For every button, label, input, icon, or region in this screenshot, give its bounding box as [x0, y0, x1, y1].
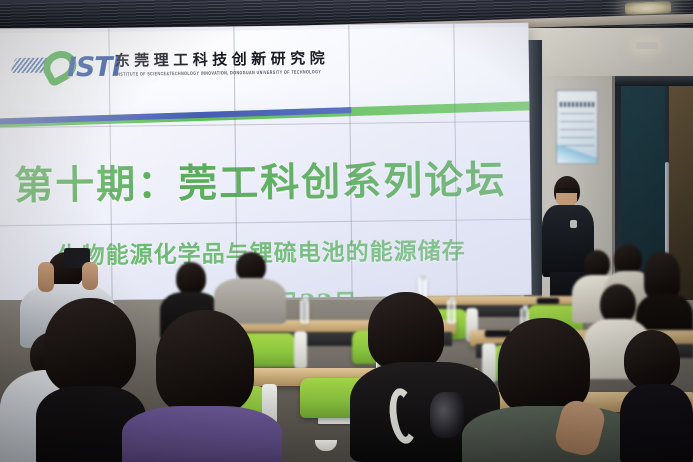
attendee-purple-shirt	[122, 310, 282, 462]
shirt-graphic	[430, 392, 464, 438]
attendee-right-edge	[620, 330, 693, 462]
chair-arm	[294, 331, 307, 369]
speaker-badge	[570, 220, 577, 228]
attendee-arm	[82, 262, 98, 290]
organization-name-en: INSTITUTE OF SCIENCE&TECHNOLOGY INNOVATI…	[116, 69, 321, 77]
notice-title-lines	[560, 102, 594, 107]
isti-logo: ISTI	[7, 46, 118, 89]
slide-header-band: ISTI 东莞理工科技创新研究院 INSTITUTE OF SCIENCE&TE…	[0, 27, 529, 111]
lecture-hall-photo: ISTI 东莞理工科技创新研究院 INSTITUTE OF SCIENCE&TE…	[0, 0, 693, 462]
right-wall-upper	[520, 28, 693, 76]
attendee-arm	[38, 262, 54, 292]
logo-wordmark: ISTI	[67, 52, 121, 84]
attendee-grey-shirt	[214, 252, 286, 318]
water-bottle	[300, 300, 309, 324]
mobile-phone-on-desk	[537, 298, 559, 304]
ceiling-light-icon	[625, 1, 671, 15]
organization-name-cn: 东莞理工科技创新研究院	[115, 47, 330, 71]
framed-wall-notice	[556, 90, 598, 164]
notice-graphic	[557, 145, 597, 163]
attendee-green-jacket	[462, 318, 642, 462]
door-header	[615, 76, 693, 86]
slide-title: 第十期：莞工科创系列论坛	[0, 149, 532, 212]
door-ceiling-light-icon	[636, 42, 658, 49]
bezel-seam-h	[0, 219, 531, 227]
